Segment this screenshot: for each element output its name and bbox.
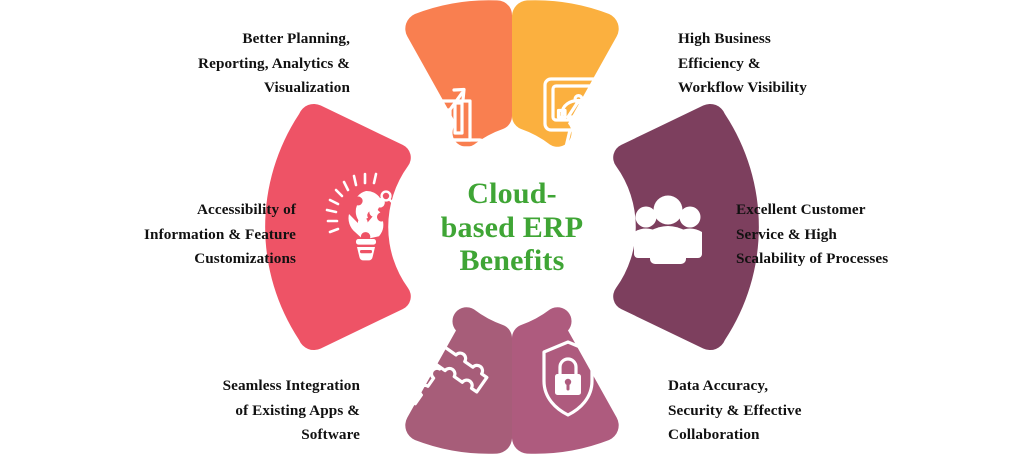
label-line: Visualization xyxy=(104,76,350,101)
segment-data-accuracy-security[interactable] xyxy=(512,307,619,454)
center-title-line-1: Cloud- xyxy=(467,177,557,211)
label-line: Accessibility of xyxy=(60,198,296,223)
segment-seamless-integration[interactable] xyxy=(399,307,512,454)
segment-high-business-efficiency-wedge[interactable] xyxy=(512,0,619,147)
label-line: of Existing Apps & xyxy=(120,399,360,424)
segment-high-business-efficiency[interactable] xyxy=(512,0,619,149)
label-high-business-efficiency: High Business Efficiency & Workflow Visi… xyxy=(678,27,938,101)
label-line: Security & Effective xyxy=(668,399,948,424)
label-line: Data Accuracy, xyxy=(668,374,948,399)
label-line: High Business xyxy=(678,27,938,52)
label-line: Software xyxy=(120,423,360,448)
center-title: Cloud- based ERP Benefits xyxy=(412,155,612,300)
label-accessibility-of-information: Accessibility of Information & Feature C… xyxy=(60,198,296,272)
label-line: Collaboration xyxy=(668,423,948,448)
label-line: Workflow Visibility xyxy=(678,76,938,101)
label-line: Seamless Integration xyxy=(120,374,360,399)
label-excellent-customer-service: Excellent Customer Service & High Scalab… xyxy=(736,198,1016,272)
segment-better-planning[interactable] xyxy=(405,0,512,148)
label-line: Efficiency & xyxy=(678,52,938,77)
center-title-line-2: based ERP xyxy=(441,211,584,245)
cloud-erp-benefits-infographic: Cloud- based ERP Benefits Better Plannin… xyxy=(0,0,1024,455)
label-line: Reporting, Analytics & xyxy=(104,52,350,77)
label-data-accuracy-security: Data Accuracy, Security & Effective Coll… xyxy=(668,374,948,448)
label-line: Customizations xyxy=(60,247,296,272)
label-line: Excellent Customer xyxy=(736,198,1016,223)
center-title-line-3: Benefits xyxy=(460,244,565,278)
label-line: Information & Feature xyxy=(60,223,296,248)
label-seamless-integration: Seamless Integration of Existing Apps & … xyxy=(120,374,360,448)
label-better-planning: Better Planning, Reporting, Analytics & … xyxy=(104,27,350,101)
label-line: Better Planning, xyxy=(104,27,350,52)
label-line: Scalability of Processes xyxy=(736,247,1016,272)
label-line: Service & High xyxy=(736,223,1016,248)
